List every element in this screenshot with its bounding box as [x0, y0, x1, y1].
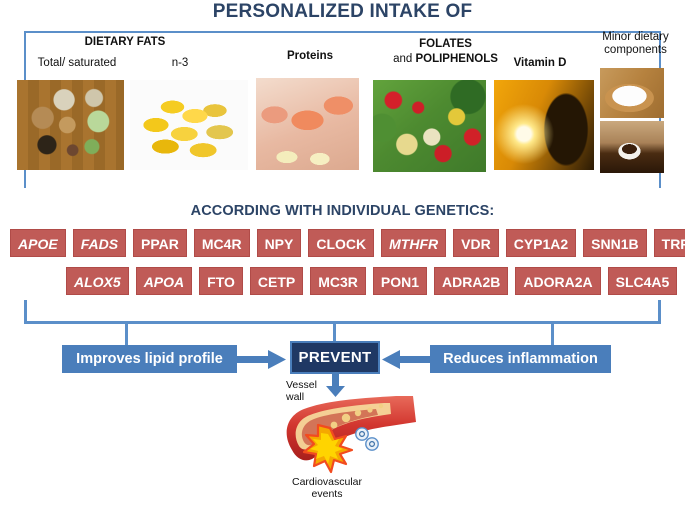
- dietary-fats-heading: DIETARY FATS: [35, 36, 215, 49]
- label-proteins: Proteins: [265, 50, 355, 63]
- connector-horizontal-line: [24, 321, 661, 324]
- coffee-cup-photo: [600, 121, 664, 173]
- improves-lipid-profile-box: Improves lipid profile: [62, 345, 237, 373]
- nuts-avocado-oil-photo: [17, 80, 124, 170]
- gene-chip-npy[interactable]: NPY: [257, 229, 302, 257]
- prevent-box: PREVENT: [290, 341, 380, 374]
- sunlight-silhouette-photo: [494, 80, 594, 170]
- gene-chip-mthfr[interactable]: MTHFR: [381, 229, 446, 257]
- gene-chip-vdr[interactable]: VDR: [453, 229, 499, 257]
- label-poliphenols-text: and: [393, 53, 415, 65]
- connector-drop-left: [125, 321, 128, 347]
- gene-chip-cetp[interactable]: CETP: [250, 267, 303, 295]
- folates-heading: FOLATES: [383, 38, 508, 51]
- gene-chip-fads[interactable]: FADS: [73, 229, 126, 257]
- gene-chip-mc4r[interactable]: MC4R: [194, 229, 250, 257]
- gene-chip-adra2b[interactable]: ADRA2B: [434, 267, 508, 295]
- vessel-wall-line1: Vessel: [286, 379, 317, 391]
- label-poliphenols-bold: POLIPHENOLS: [415, 53, 497, 65]
- gene-row-2: ALOX5APOAFTOCETPMC3RPON1ADRA2BADORA2ASLC…: [66, 267, 677, 295]
- reduces-inflammation-box: Reduces inflammation: [430, 345, 611, 373]
- cardio-line1: Cardiovascular: [292, 476, 362, 488]
- gene-chip-fto[interactable]: FTO: [199, 267, 243, 295]
- bracket-stub-right: [658, 300, 661, 323]
- page-title: PERSONALIZED INTAKE OF: [0, 1, 685, 23]
- gene-chip-snn1b[interactable]: SNN1B: [583, 229, 646, 257]
- salt-mortar-photo: [600, 68, 664, 118]
- cardio-line2: events: [312, 488, 343, 500]
- gene-chip-trpv1[interactable]: TRPV1: [654, 229, 685, 257]
- bracket-stub-left: [24, 300, 27, 323]
- gene-chip-slc4a5[interactable]: SLC4A5: [608, 267, 678, 295]
- vessel-wall-line2: wall: [286, 391, 304, 403]
- gene-chip-apoa[interactable]: APOA: [136, 267, 192, 295]
- gene-chip-clock[interactable]: CLOCK: [308, 229, 374, 257]
- label-vitamin-d: Vitamin D: [495, 57, 585, 70]
- gene-chip-cyp1a2[interactable]: CYP1A2: [506, 229, 576, 257]
- gene-chip-pon1[interactable]: PON1: [373, 267, 427, 295]
- gene-chip-mc3r[interactable]: MC3R: [310, 267, 366, 295]
- arrow-right-icon: [236, 350, 286, 369]
- arrow-left-icon: [382, 350, 432, 369]
- gene-chip-apoe[interactable]: APOE: [10, 229, 66, 257]
- gene-row-1: APOEFADSPPARMC4RNPYCLOCKMTHFRVDRCYP1A2SN…: [10, 229, 685, 257]
- salmon-fish-photo: [256, 78, 359, 170]
- minor-line2: components: [604, 44, 667, 56]
- vegetables-fruit-photo: [373, 80, 486, 172]
- label-total-saturated: Total/ saturated: [22, 57, 132, 70]
- genetics-heading: ACCORDING WITH INDIVIDUAL GENETICS:: [0, 203, 685, 219]
- connector-drop-right: [551, 321, 554, 347]
- fish-oil-capsules-photo: [130, 80, 248, 170]
- label-n3: n-3: [140, 57, 220, 70]
- gene-chip-ppar[interactable]: PPAR: [133, 229, 187, 257]
- gene-chip-adora2a[interactable]: ADORA2A: [515, 267, 600, 295]
- cardiovascular-events-label: Cardiovascular events: [272, 476, 382, 500]
- minor-line1: Minor dietary: [602, 31, 668, 43]
- gene-chip-alox5[interactable]: ALOX5: [66, 267, 129, 295]
- blood-vessel-illustration: [258, 392, 428, 474]
- vessel-wall-label: Vessel wall: [286, 379, 332, 403]
- label-minor-dietary-components: Minor dietary components: [588, 31, 683, 57]
